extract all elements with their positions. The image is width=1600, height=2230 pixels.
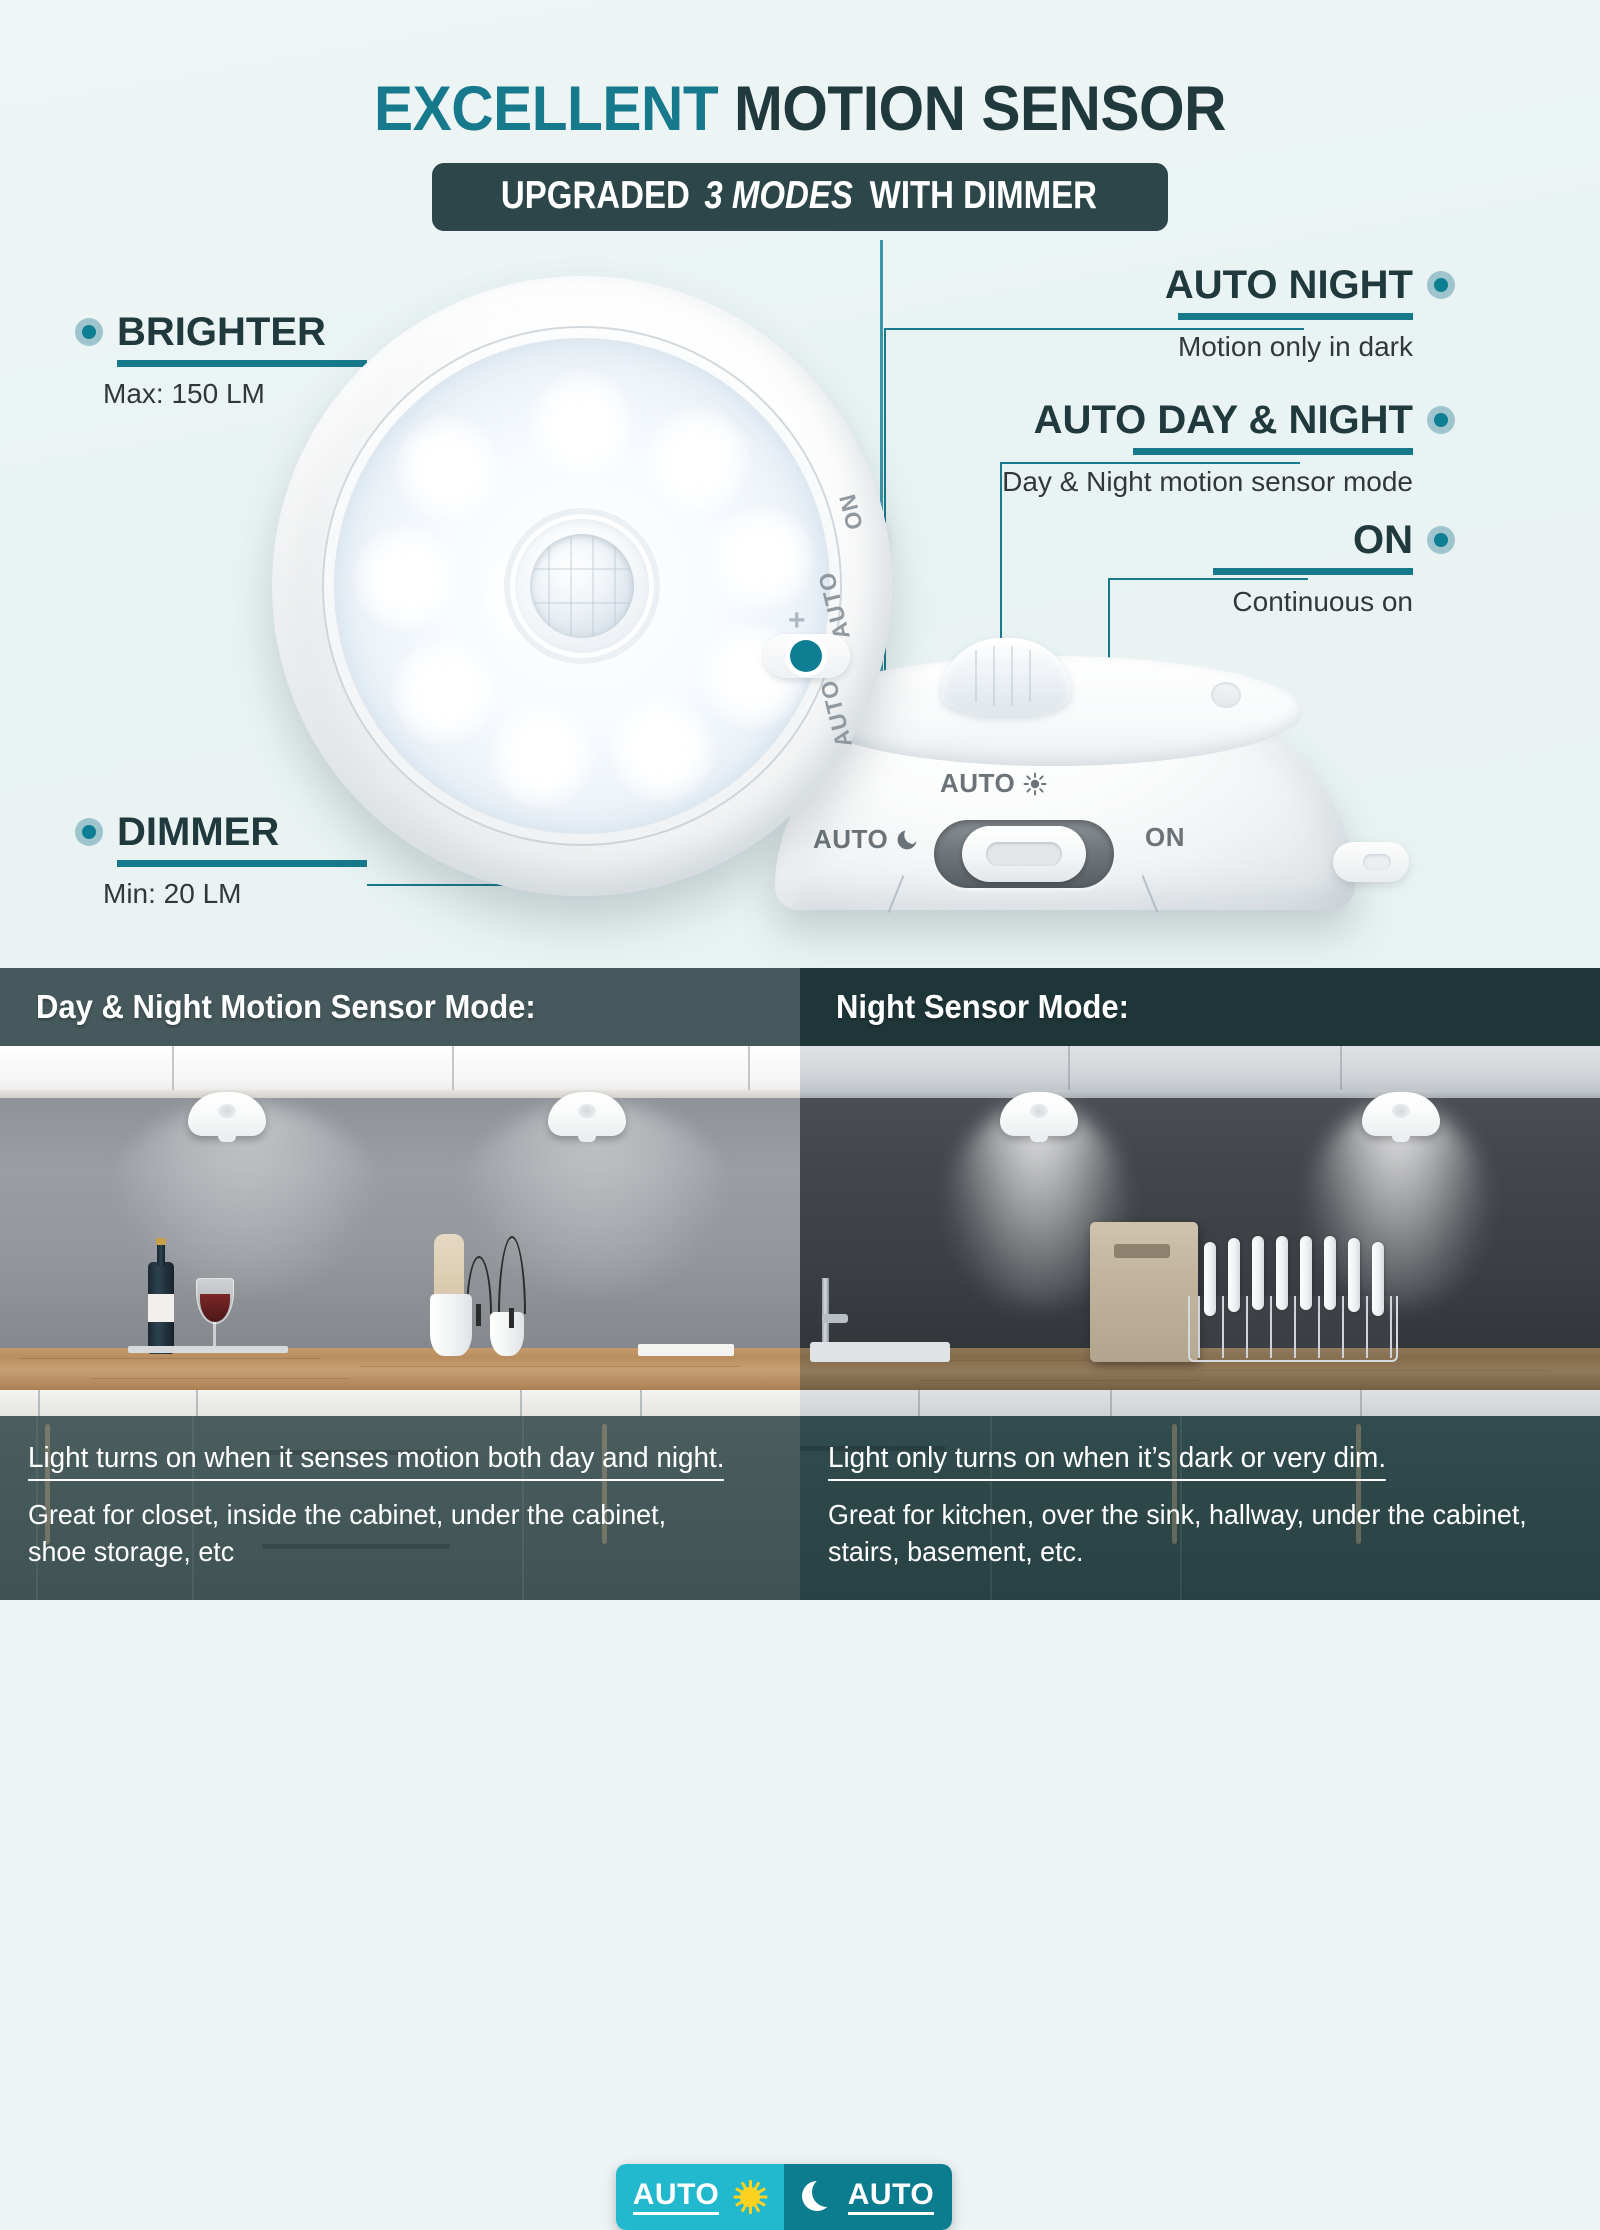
page-title: EXCELLENT MOTION SENSOR bbox=[56, 78, 1544, 141]
dish-rack bbox=[1188, 1296, 1398, 1362]
bullet-dot-icon bbox=[1427, 271, 1455, 299]
pir-sensor-icon bbox=[510, 514, 654, 658]
counter-plate bbox=[638, 1344, 734, 1356]
badge-night-label: AUTO bbox=[848, 2180, 934, 2215]
wine-bottle-neck bbox=[157, 1242, 165, 1266]
puck-tab bbox=[578, 1134, 596, 1142]
device-side-nub bbox=[1211, 682, 1241, 708]
subtitle-emphasis: 3 MODES bbox=[705, 174, 854, 218]
lower-cabinet-seam bbox=[196, 1390, 198, 1416]
plate bbox=[1372, 1242, 1384, 1316]
utensil-vase bbox=[430, 1294, 472, 1356]
kitchen-scene-night bbox=[800, 1046, 1600, 1416]
bullet-dot-icon bbox=[1427, 406, 1455, 434]
brightness-up-knob[interactable] bbox=[790, 640, 822, 672]
subtitle-text: UPGRADED 3 MODES WITH DIMMER bbox=[493, 174, 1107, 218]
puck-tab bbox=[218, 1134, 236, 1142]
plate bbox=[1300, 1236, 1312, 1310]
motion-light-front-view: + − bbox=[272, 276, 892, 896]
lower-cabinet-seam bbox=[520, 1390, 522, 1416]
lower-cabinet bbox=[800, 1390, 1600, 1416]
lower-cabinet-seam bbox=[918, 1390, 920, 1416]
whisk-handle bbox=[476, 1304, 481, 1326]
wine-glass-stem bbox=[213, 1322, 216, 1348]
switch-label-auto-day-text: AUTO bbox=[940, 768, 1015, 799]
wooden-spatula bbox=[434, 1234, 464, 1302]
panel-right-header-text: Night Sensor Mode: bbox=[836, 988, 1129, 1026]
sink-basin bbox=[810, 1342, 950, 1362]
panel-left-header: Day & Night Motion Sensor Mode: bbox=[0, 968, 800, 1046]
moon-icon bbox=[802, 2181, 834, 2213]
badge-day-half: AUTO bbox=[616, 2164, 784, 2230]
subtitle-post: WITH DIMMER bbox=[870, 174, 1097, 218]
mode-slide-switch[interactable] bbox=[934, 820, 1114, 888]
panel-right-caption-head: Light only turns on when it’s dark or ve… bbox=[828, 1442, 1386, 1481]
sun-icon bbox=[1023, 772, 1047, 796]
panel-right-header: Night Sensor Mode: bbox=[800, 968, 1600, 1046]
lower-cabinet bbox=[0, 1390, 800, 1416]
callout-auto-night-row: AUTO NIGHT bbox=[1165, 265, 1455, 305]
switch-label-auto-day: AUTO bbox=[940, 768, 1047, 799]
lower-cabinet-seam bbox=[1360, 1390, 1362, 1416]
switch-label-on: ON bbox=[1145, 822, 1185, 853]
brightness-up-button[interactable] bbox=[764, 634, 850, 678]
led-lamp bbox=[710, 506, 814, 610]
faucet-head bbox=[822, 1314, 848, 1323]
wine-bottle-label bbox=[148, 1294, 174, 1322]
led-lamp bbox=[392, 640, 496, 744]
modes-comparison-section: Day & Night Motion Sensor Mode: bbox=[0, 968, 1600, 1600]
lower-cabinet-seam bbox=[38, 1390, 40, 1416]
panel-day-night-mode: Day & Night Motion Sensor Mode: bbox=[0, 968, 800, 1600]
led-lamp bbox=[396, 416, 500, 520]
lower-cabinet-seam bbox=[1110, 1390, 1112, 1416]
led-lamp bbox=[530, 372, 634, 476]
badge-night-half: AUTO bbox=[784, 2164, 952, 2230]
panel-left-caption-head: Light turns on when it senses motion bot… bbox=[28, 1442, 724, 1481]
plate bbox=[1204, 1242, 1216, 1316]
cutting-board-slot bbox=[1114, 1244, 1170, 1258]
hanging-tab bbox=[1333, 842, 1409, 882]
led-lamp bbox=[610, 698, 714, 802]
led-lamp bbox=[646, 408, 750, 512]
panel-right-caption-body: Great for kitchen, over the sink, hallwa… bbox=[828, 1497, 1542, 1570]
switch-label-on-text: ON bbox=[1145, 822, 1185, 853]
panel-left-caption: Light turns on when it senses motion bot… bbox=[0, 1416, 800, 1600]
callout-auto-night-rule bbox=[1178, 313, 1413, 320]
brightness-plus-symbol: + bbox=[788, 606, 806, 636]
panel-left-caption-line1: Great for closet, inside the cabinet, un… bbox=[28, 1497, 742, 1533]
bullet-dot-icon bbox=[1427, 526, 1455, 554]
switch-knob[interactable] bbox=[962, 826, 1086, 882]
light-diffuser bbox=[334, 338, 830, 834]
serving-tray bbox=[128, 1346, 288, 1353]
panel-left-caption-line2: shoe storage, etc bbox=[28, 1534, 742, 1570]
panel-right-caption: Light only turns on when it’s dark or ve… bbox=[800, 1416, 1600, 1600]
puck-tab bbox=[1392, 1134, 1410, 1142]
lower-cabinet-seam bbox=[640, 1390, 642, 1416]
kitchen-scene-day bbox=[0, 1046, 800, 1416]
callout-on-title: ON bbox=[1353, 520, 1413, 560]
panel-night-mode: Night Sensor Mode: bbox=[800, 968, 1600, 1600]
pir-sensor-dome-icon bbox=[941, 638, 1071, 716]
panel-left-caption-body: Great for closet, inside the cabinet, un… bbox=[28, 1497, 742, 1570]
plate bbox=[1276, 1236, 1288, 1310]
title-block: EXCELLENT MOTION SENSOR UPGRADED 3 MODES… bbox=[0, 78, 1600, 231]
pir-lens bbox=[530, 534, 634, 638]
led-lamp bbox=[490, 704, 594, 808]
panel-right-caption-line1: Great for kitchen, over the sink, hallwa… bbox=[828, 1497, 1542, 1533]
callout-auto-night-title: AUTO NIGHT bbox=[1165, 265, 1413, 305]
moon-icon bbox=[896, 828, 920, 852]
backsplash-wall bbox=[0, 1098, 800, 1348]
plate bbox=[1324, 1236, 1336, 1310]
whisk-handle bbox=[509, 1308, 514, 1328]
badge-day-label: AUTO bbox=[633, 2180, 719, 2215]
subtitle-banner: UPGRADED 3 MODES WITH DIMMER bbox=[432, 163, 1167, 231]
plate bbox=[1228, 1238, 1240, 1312]
subtitle-pre: UPGRADED bbox=[501, 174, 690, 218]
hero-section: EXCELLENT MOTION SENSOR UPGRADED 3 MODES… bbox=[0, 0, 1600, 968]
plate bbox=[1252, 1236, 1264, 1310]
panel-left-header-text: Day & Night Motion Sensor Mode: bbox=[36, 988, 536, 1026]
bullet-dot-icon bbox=[75, 818, 103, 846]
utensil-vase bbox=[490, 1312, 524, 1356]
led-lamp bbox=[354, 526, 458, 630]
bullet-dot-icon bbox=[75, 318, 103, 346]
auto-mode-badge: AUTO AUTO bbox=[616, 2164, 952, 2230]
sun-icon bbox=[733, 2180, 767, 2214]
cutting-board bbox=[1090, 1222, 1198, 1362]
puck-tab bbox=[1030, 1134, 1048, 1142]
plate bbox=[1348, 1238, 1360, 1312]
panel-right-caption-line2: stairs, basement, etc. bbox=[828, 1534, 1542, 1570]
title-highlight: EXCELLENT bbox=[374, 74, 734, 144]
sink-faucet bbox=[822, 1278, 829, 1348]
title-rest: MOTION SENSOR bbox=[734, 74, 1226, 144]
callout-dimmer-title: DIMMER bbox=[117, 812, 279, 852]
wine-bottle-cap bbox=[156, 1238, 166, 1245]
